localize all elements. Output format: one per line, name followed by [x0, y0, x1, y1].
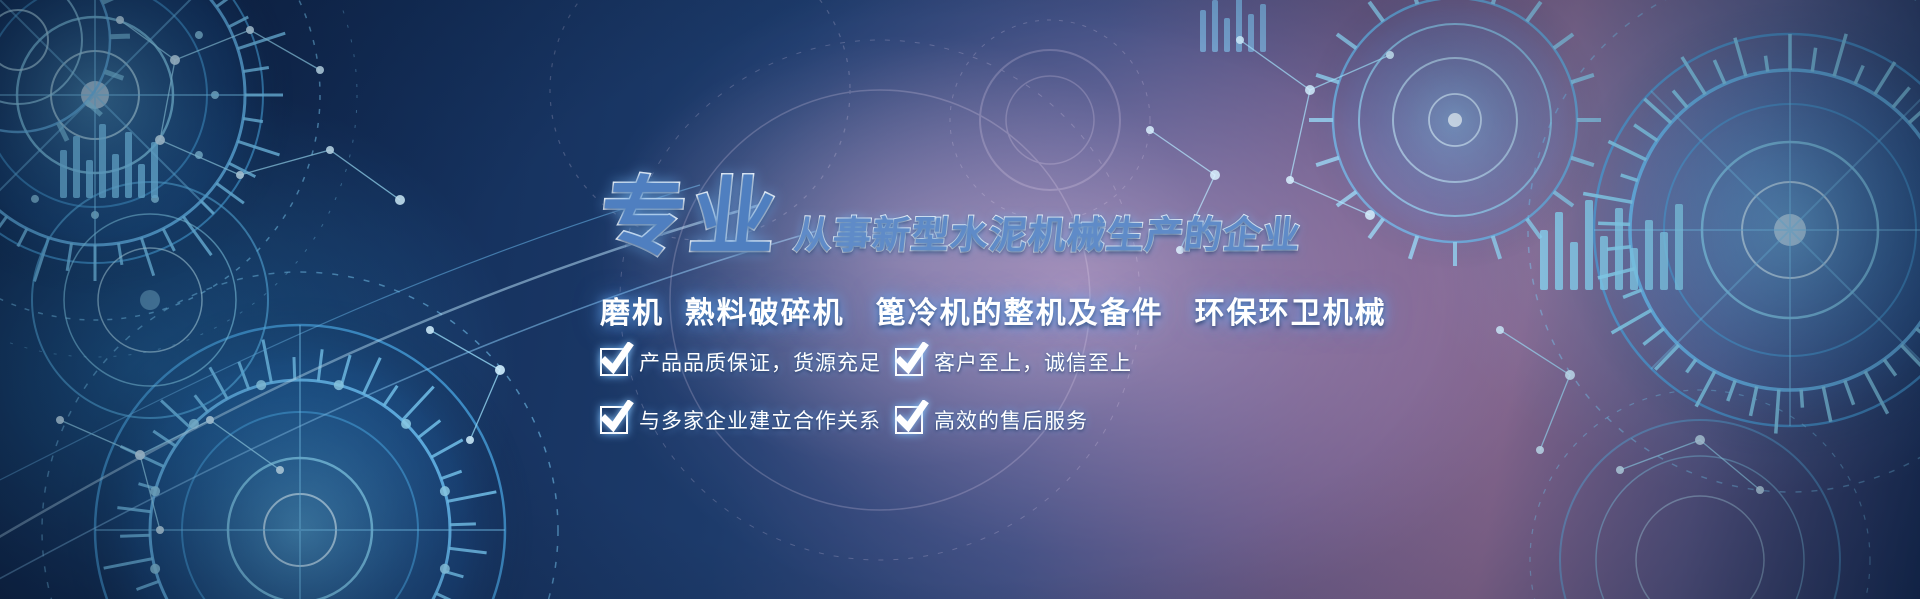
checkmark-icon	[600, 348, 628, 376]
list-item: 与多家企业建立合作关系	[600, 405, 895, 435]
checkmark-icon	[895, 348, 923, 376]
hero-banner: 专业 从事新型水泥机械生产的企业 磨机 熟料破碎机 篦冷机的整机及备件 环保环卫…	[0, 0, 1920, 599]
list-item: 高效的售后服务	[895, 405, 1132, 435]
product-line: 磨机 熟料破碎机 篦冷机的整机及备件 环保环卫机械	[600, 288, 1387, 332]
bullet-label: 高效的售后服务	[934, 405, 1088, 435]
headline-emphasis: 专业	[595, 175, 784, 261]
checkmark-icon	[600, 406, 628, 434]
feature-bullets: 产品品质保证，货源充足 客户至上，诚信至上 与多家企业建立合作关系 高效的售后服…	[600, 347, 1132, 435]
list-item: 客户至上，诚信至上	[895, 347, 1132, 377]
headline: 专业 从事新型水泥机械生产的企业	[600, 175, 1301, 261]
bullet-label: 客户至上，诚信至上	[934, 347, 1132, 377]
bullet-label: 与多家企业建立合作关系	[639, 405, 881, 435]
banner-content: 专业 从事新型水泥机械生产的企业 磨机 熟料破碎机 篦冷机的整机及备件 环保环卫…	[0, 0, 1920, 599]
checkmark-icon	[895, 406, 923, 434]
bullet-label: 产品品质保证，货源充足	[639, 347, 881, 377]
list-item: 产品品质保证，货源充足	[600, 347, 895, 377]
headline-rest: 从事新型水泥机械生产的企业	[792, 217, 1303, 255]
